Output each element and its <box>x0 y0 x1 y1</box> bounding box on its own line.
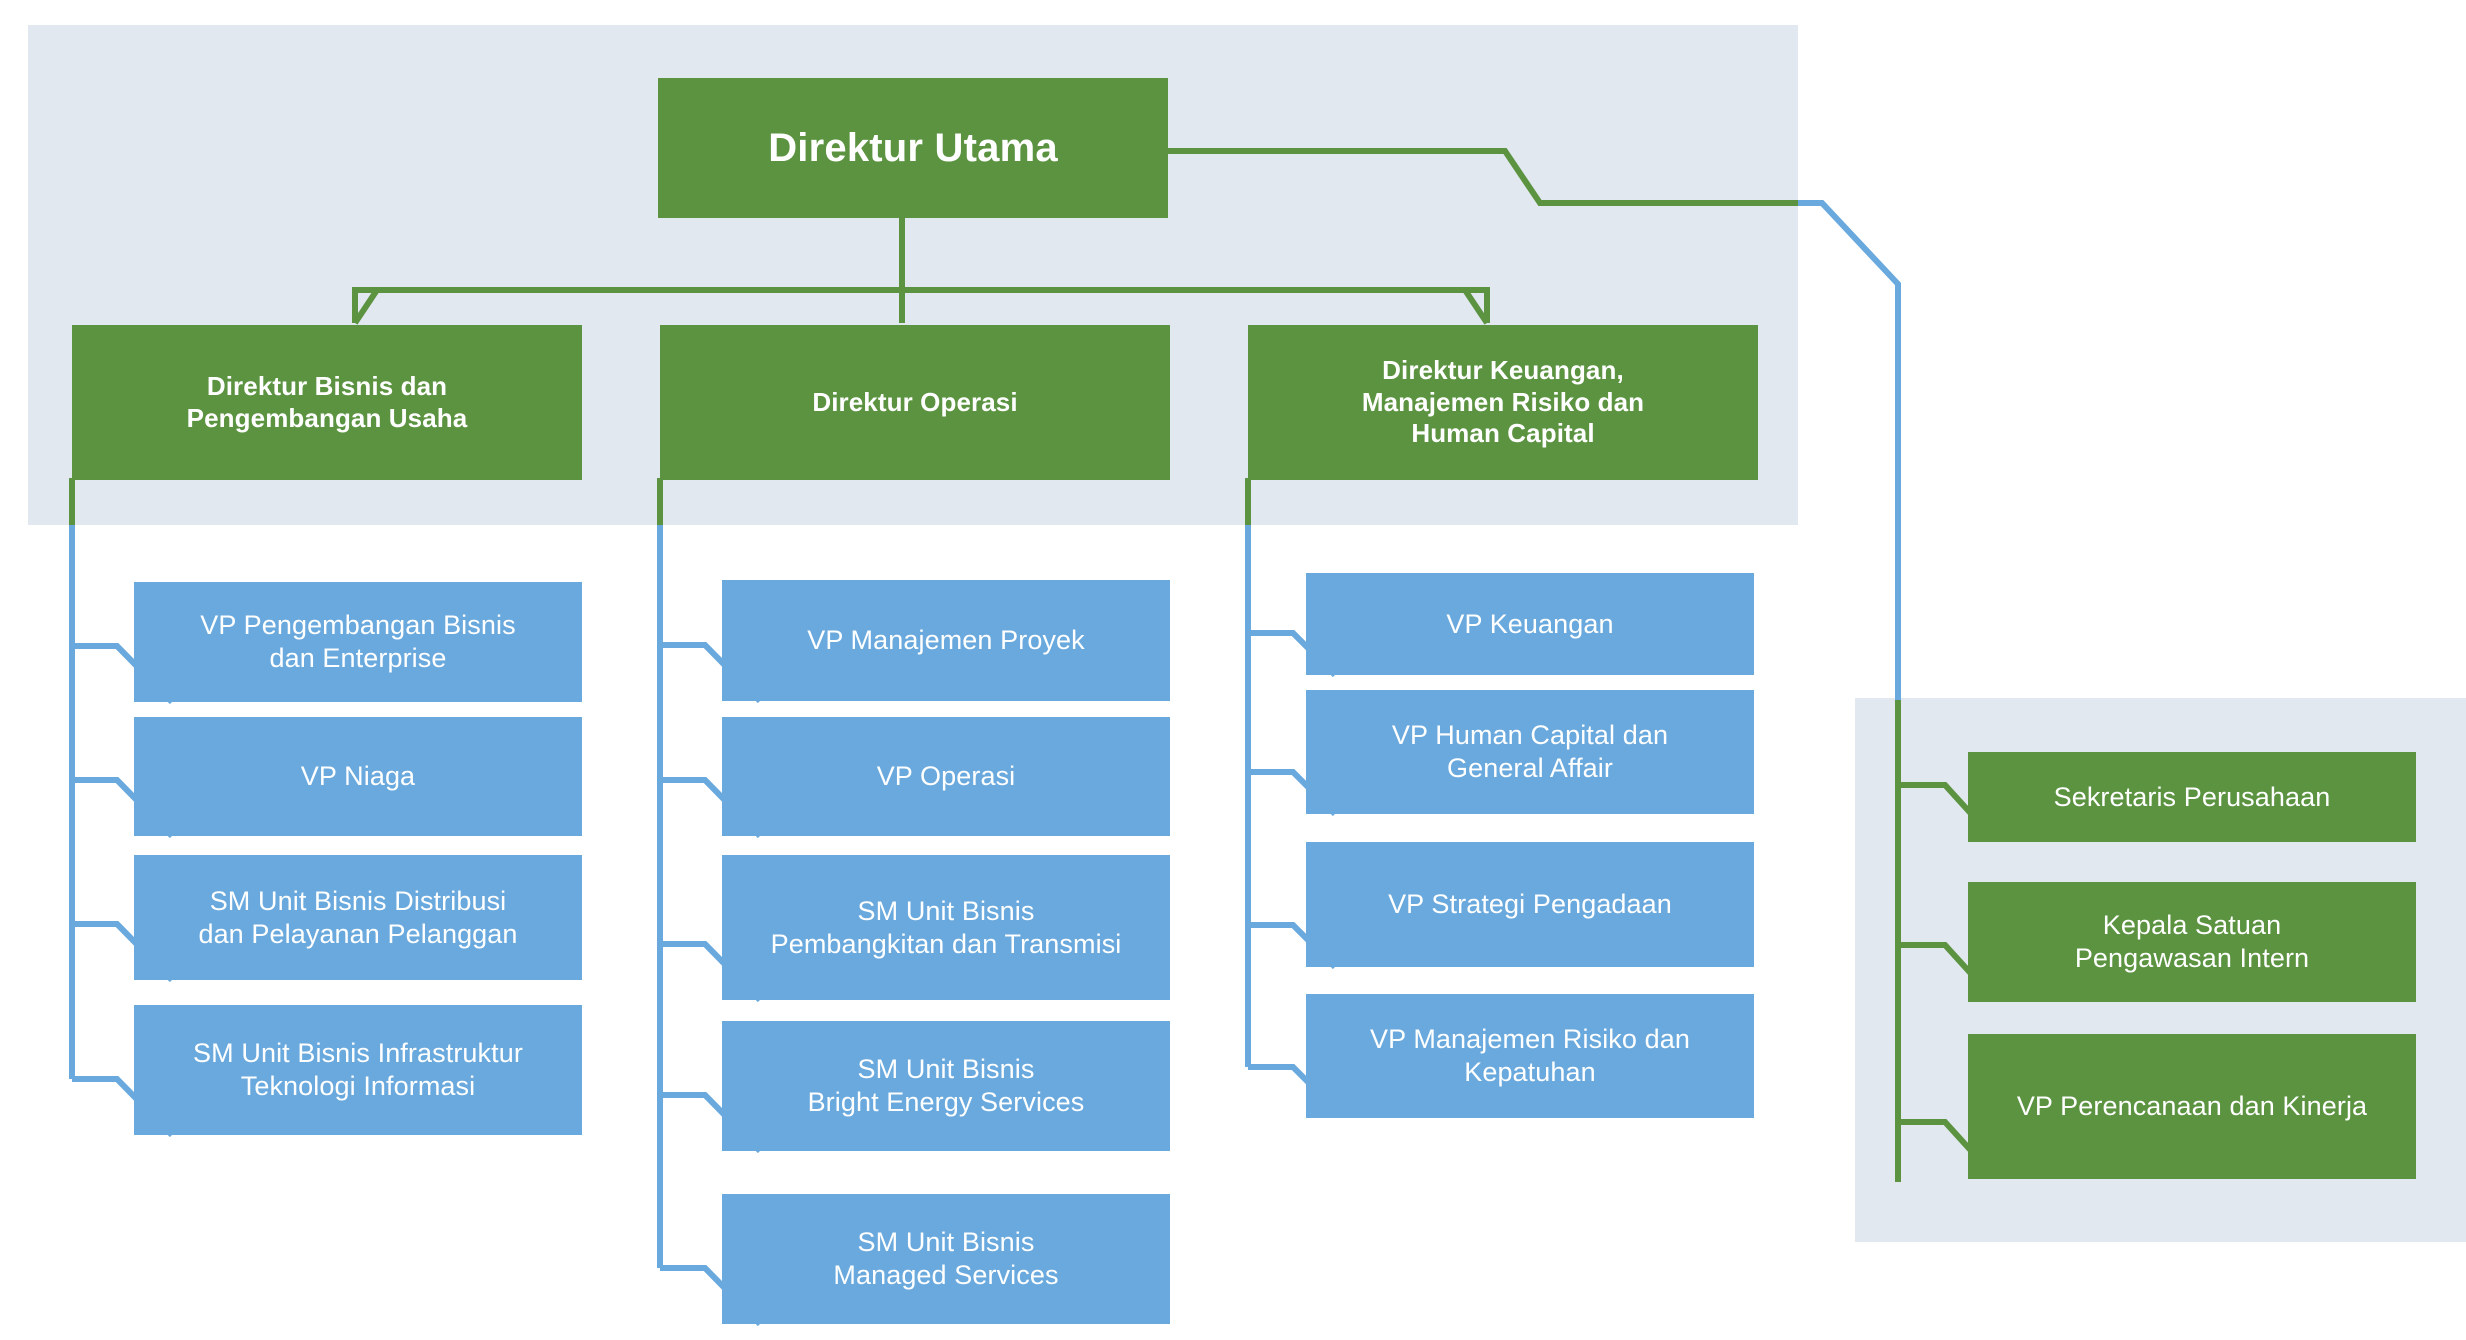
node-vp-operasi[interactable]: VP Operasi <box>722 717 1170 836</box>
node-sm-unit-bisnis-distribusi[interactable]: SM Unit Bisnis Distribusi dan Pelayanan … <box>134 855 582 980</box>
node-vp-manajemen-proyek[interactable]: VP Manajemen Proyek <box>722 580 1170 701</box>
node-vp-keuangan[interactable]: VP Keuangan <box>1306 573 1754 675</box>
node-sm-unit-bisnis-infrastruktur-ti[interactable]: SM Unit Bisnis Infrastruktur Teknologi I… <box>134 1005 582 1135</box>
node-vp-strategi-pengadaan[interactable]: VP Strategi Pengadaan <box>1306 842 1754 967</box>
node-vp-pengembangan-bisnis[interactable]: VP Pengembangan Bisnis dan Enterprise <box>134 582 582 702</box>
node-sm-unit-bisnis-managed-services[interactable]: SM Unit Bisnis Managed Services <box>722 1194 1170 1324</box>
node-direktur-keuangan[interactable]: Direktur Keuangan, Manajemen Risiko dan … <box>1248 325 1758 480</box>
node-direktur-bisnis[interactable]: Direktur Bisnis dan Pengembangan Usaha <box>72 325 582 480</box>
node-vp-human-capital[interactable]: VP Human Capital dan General Affair <box>1306 690 1754 814</box>
node-sm-unit-bisnis-pembangkitan[interactable]: SM Unit Bisnis Pembangkitan dan Transmis… <box>722 855 1170 1000</box>
node-direktur-utama[interactable]: Direktur Utama <box>658 78 1168 218</box>
node-sm-unit-bisnis-bright-energy[interactable]: SM Unit Bisnis Bright Energy Services <box>722 1021 1170 1151</box>
node-kepala-satuan-pengawasan-intern[interactable]: Kepala Satuan Pengawasan Intern <box>1968 882 2416 1002</box>
node-vp-niaga[interactable]: VP Niaga <box>134 717 582 836</box>
node-vp-manajemen-risiko[interactable]: VP Manajemen Risiko dan Kepatuhan <box>1306 994 1754 1118</box>
node-vp-perencanaan-dan-kinerja[interactable]: VP Perencanaan dan Kinerja <box>1968 1034 2416 1179</box>
node-sekretaris-perusahaan[interactable]: Sekretaris Perusahaan <box>1968 752 2416 842</box>
node-direktur-operasi[interactable]: Direktur Operasi <box>660 325 1170 480</box>
org-chart-canvas: Direktur Utama Direktur Bisnis dan Penge… <box>0 0 2466 1340</box>
